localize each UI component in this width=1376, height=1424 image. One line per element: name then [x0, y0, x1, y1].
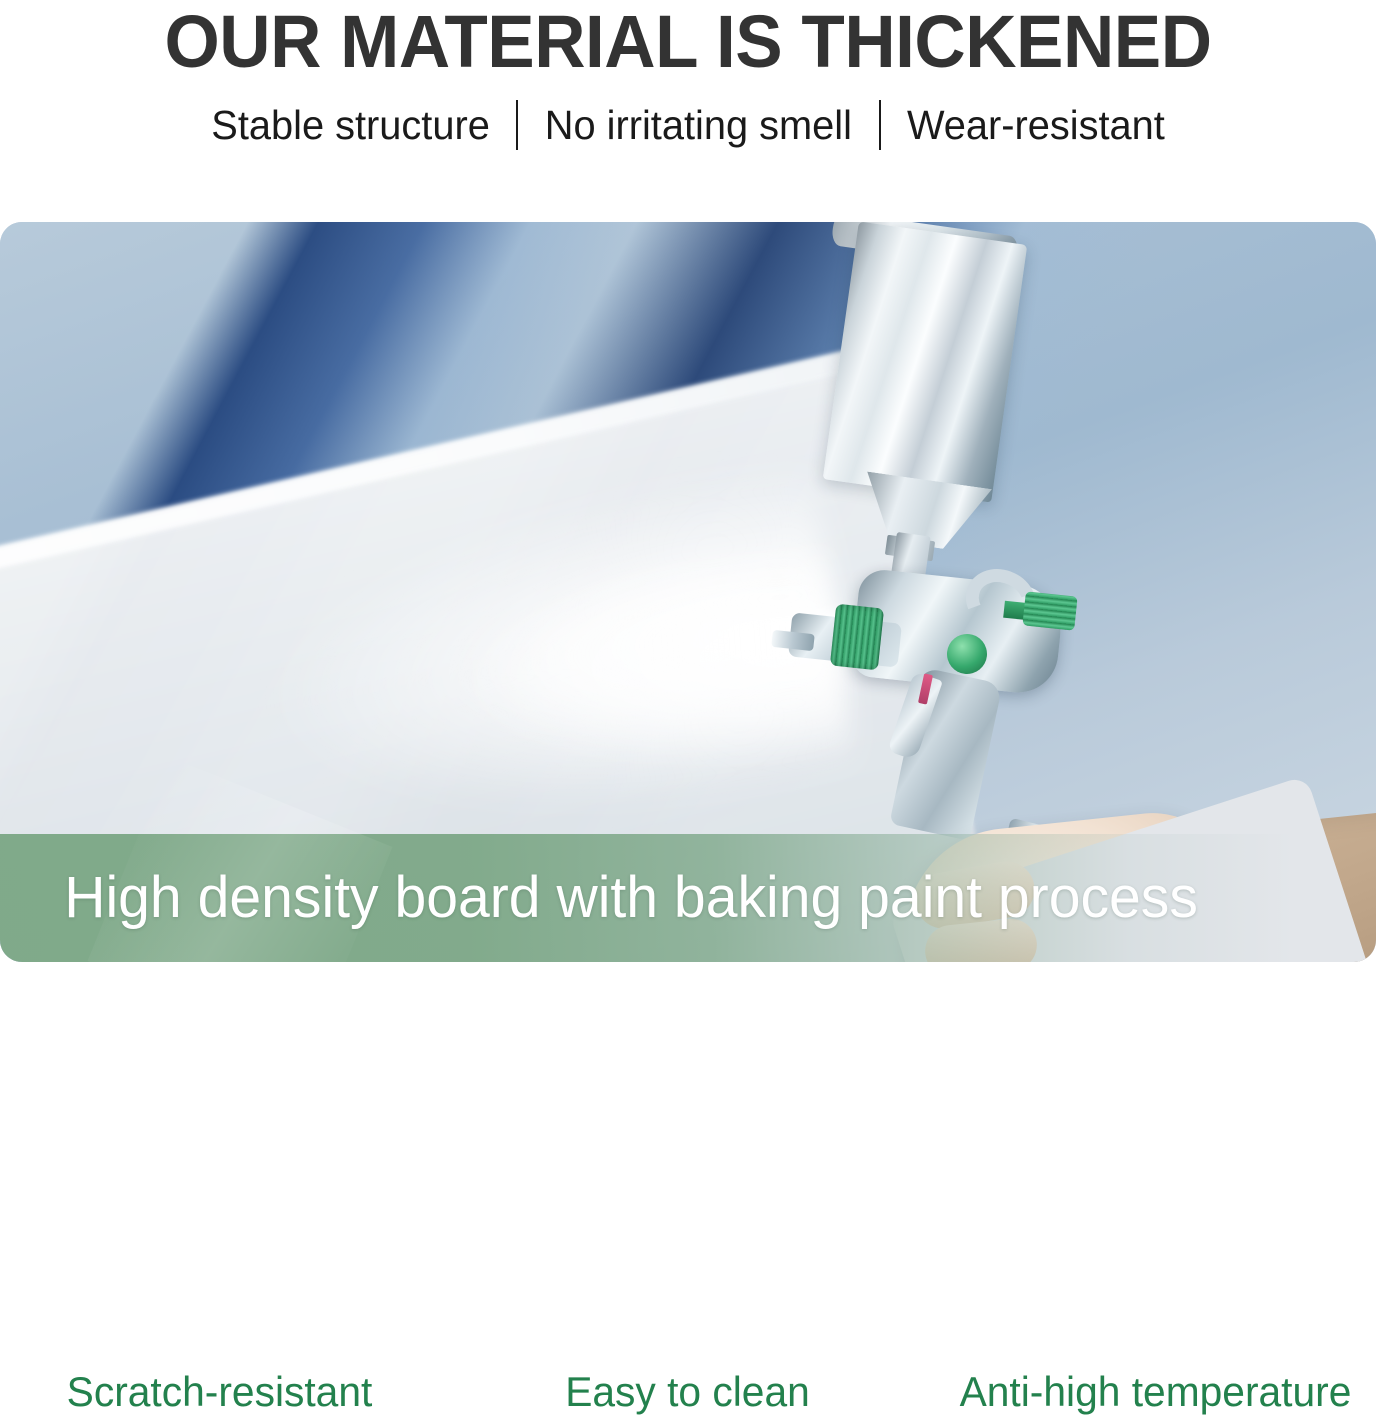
green-fan-knob-icon: [830, 604, 884, 671]
spray-nozzle-icon: [771, 630, 815, 651]
thumbnail-caption-row: Scratch-resistant Easy to clean Anti-hig…: [0, 1366, 1376, 1424]
caption-easy-to-clean: Easy to clean: [475, 1366, 901, 1424]
green-air-knob-icon: [1022, 591, 1077, 630]
feature-item-no-irritating-smell: No irritating smell: [524, 100, 874, 150]
feature-item-stable-structure: Stable structure: [190, 100, 511, 150]
feature-item-wear-resistant: Wear-resistant: [886, 100, 1187, 150]
hero-caption-banner: High density board with baking paint pro…: [0, 834, 1376, 962]
feature-thumbnail-row: [0, 990, 1376, 1360]
feature-divider-1: [516, 100, 518, 150]
page-title: OUR MATERIAL IS THICKENED: [28, 2, 1349, 82]
caption-anti-high-temperature: Anti-high temperature: [943, 1366, 1369, 1424]
hero-caption-text: High density board with baking paint pro…: [9, 834, 1198, 962]
header-section: OUR MATERIAL IS THICKENED Stable structu…: [0, 0, 1376, 200]
paint-cup-icon: [823, 222, 1028, 503]
feature-list: Stable structure No irritating smell Wea…: [0, 100, 1376, 150]
product-infographic: OUR MATERIAL IS THICKENED Stable structu…: [0, 0, 1376, 1424]
caption-scratch-resistant: Scratch-resistant: [7, 1366, 433, 1424]
hero-image-spray-gun: High density board with baking paint pro…: [0, 222, 1376, 962]
feature-divider-2: [879, 100, 881, 150]
